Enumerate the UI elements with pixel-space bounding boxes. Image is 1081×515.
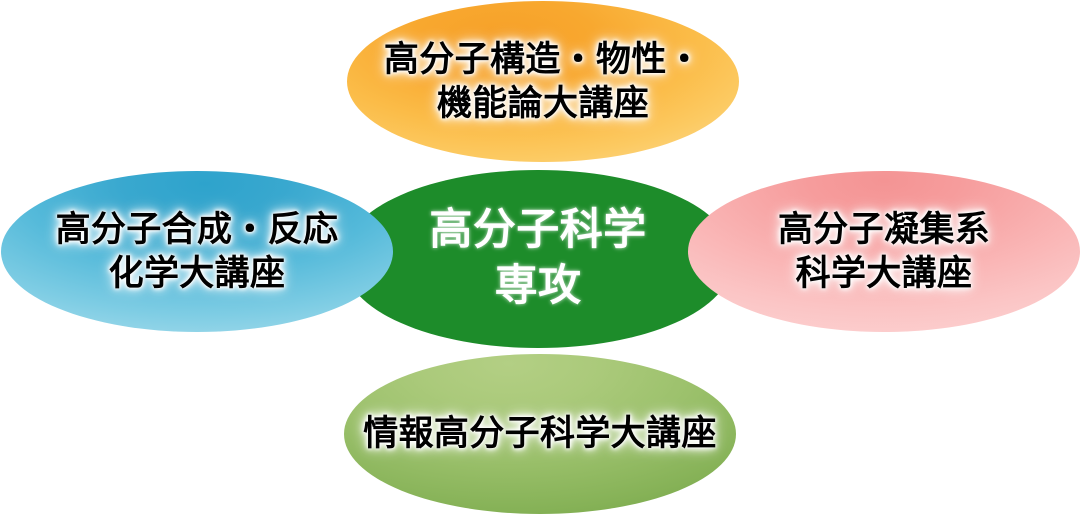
node-top-label: 高分子構造・物性・ 機能論大講座 (384, 38, 702, 126)
node-right-division[interactable]: 高分子凝集系 科学大講座 (688, 171, 1080, 332)
node-right-label: 高分子凝集系 科学大講座 (778, 208, 990, 296)
node-bottom-division[interactable]: 情報高分子科学大講座 (344, 354, 736, 514)
node-bottom-label: 情報高分子科学大講座 (363, 412, 717, 456)
node-center-label: 高分子科学 専攻 (429, 203, 646, 315)
node-center-department[interactable]: 高分子科学 専攻 (344, 170, 732, 348)
node-left-label: 高分子合成・反応 化学大講座 (56, 208, 339, 296)
diagram-canvas: 高分子科学 専攻 高分子構造・物性・ 機能論大講座 高分子合成・反応 化学大講座… (0, 0, 1081, 515)
node-left-division[interactable]: 高分子合成・反応 化学大講座 (1, 171, 393, 332)
node-top-division[interactable]: 高分子構造・物性・ 機能論大講座 (347, 1, 739, 162)
